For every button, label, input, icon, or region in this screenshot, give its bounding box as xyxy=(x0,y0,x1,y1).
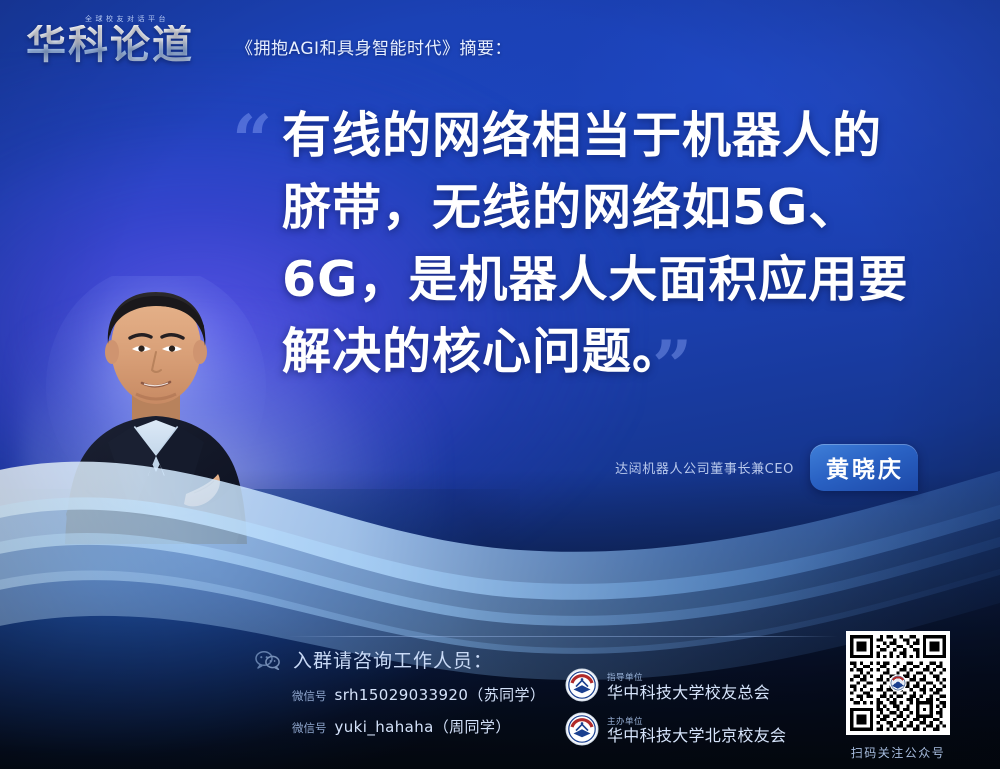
hust-seal-icon xyxy=(565,712,599,746)
brand-logo: 全球校友对话平台 华科论道 xyxy=(26,14,222,67)
footer-title: 入群请咨询工作人员： xyxy=(293,646,493,673)
hust-seal-icon xyxy=(565,668,599,702)
attribution: 达闼机器人公司董事长兼CEO 黄晓庆 xyxy=(615,444,918,491)
organization-row: 指导单位 华中科技大学校友总会 xyxy=(565,668,786,703)
quote-open-mark: “ xyxy=(232,106,272,176)
speaker-name-badge: 黄晓庆 xyxy=(810,444,918,491)
brand-tagline: 全球校友对话平台 xyxy=(32,14,222,24)
qr-section: 扫码关注公众号 xyxy=(838,631,958,761)
organization-name: 华中科技大学校友总会 xyxy=(607,683,770,702)
wechat-icon xyxy=(255,650,281,670)
contact-value: yuki_hahaha（周同学） xyxy=(335,716,511,737)
poster-header: 全球校友对话平台 华科论道 《拥抱AGI和具身智能时代》摘要： xyxy=(26,14,512,67)
quote-line: 有线的网络相当于机器人的 xyxy=(282,100,952,172)
contact-label: 微信号 xyxy=(292,720,327,736)
quote-close-mark: ” xyxy=(652,332,692,402)
contact-label: 微信号 xyxy=(292,688,327,704)
organization-name: 华中科技大学北京校友会 xyxy=(607,726,786,745)
footer-divider xyxy=(288,636,838,637)
episode-subtitle: 《拥抱AGI和具身智能时代》摘要： xyxy=(236,34,512,67)
organization-row: 主办单位 华中科技大学北京校友会 xyxy=(565,712,786,747)
organization-kind: 主办单位 xyxy=(607,717,643,727)
poster-canvas: 全球校友对话平台 华科论道 《拥抱AGI和具身智能时代》摘要： “ 有线的网络相… xyxy=(0,0,1000,769)
qr-code-icon[interactable] xyxy=(846,631,950,735)
quote-line: 脐带，无线的网络如5G、 xyxy=(282,172,952,244)
organization-texts: 主办单位 华中科技大学北京校友会 xyxy=(607,712,786,747)
quote-lines: 有线的网络相当于机器人的 脐带，无线的网络如5G、 6G，是机器人大面积应用要 … xyxy=(282,100,952,388)
quote-block: “ 有线的网络相当于机器人的 脐带，无线的网络如5G、 6G，是机器人大面积应用… xyxy=(232,100,952,388)
contact-value: srh15029033920（苏同学） xyxy=(335,684,546,705)
quote-line: 6G，是机器人大面积应用要 xyxy=(282,244,952,316)
speaker-role: 达闼机器人公司董事长兼CEO xyxy=(615,458,794,477)
organization-kind: 指导单位 xyxy=(607,673,643,683)
qr-caption: 扫码关注公众号 xyxy=(838,744,958,761)
brand-title: 华科论道 xyxy=(26,25,222,67)
quote-line: 解决的核心问题。 xyxy=(282,316,952,388)
organization-list: 指导单位 华中科技大学校友总会 主办单位 华中科技大学北京校友会 xyxy=(565,668,786,755)
organization-texts: 指导单位 华中科技大学校友总会 xyxy=(607,668,770,703)
